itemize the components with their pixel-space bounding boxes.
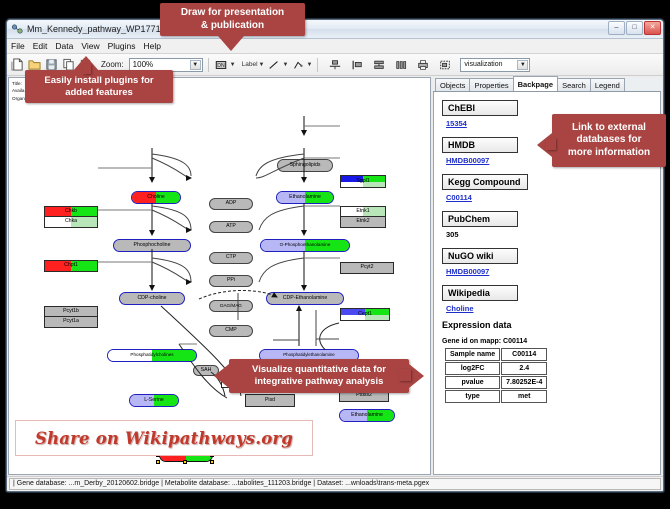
node-phosphatidylcholines[interactable]: Phosphatidylcholines bbox=[107, 349, 197, 362]
minimize-button[interactable]: – bbox=[608, 21, 625, 35]
backpage-value-pubchem: 305 bbox=[446, 230, 660, 239]
line-icon[interactable] bbox=[266, 57, 281, 72]
table-row: Sample name C00114 bbox=[445, 348, 547, 361]
link-annotation-line2: databases for bbox=[568, 134, 650, 147]
share-banner-text: Share on Wikipathways.org bbox=[35, 429, 293, 448]
interaction-tool-group[interactable]: ▼ bbox=[290, 57, 312, 72]
table-cell-value: C00114 bbox=[501, 348, 547, 361]
plugins-annotation: Easily install plugins for added feature… bbox=[25, 70, 173, 103]
tab-search[interactable]: Search bbox=[557, 78, 591, 91]
align-center-icon[interactable] bbox=[327, 57, 342, 72]
chevron-down-icon[interactable]: ▼ bbox=[517, 60, 528, 70]
print-icon[interactable] bbox=[415, 57, 430, 72]
node-o-phosphoethanolamine[interactable]: O-Phosphoethanolamine bbox=[260, 239, 350, 252]
selection-handle-se[interactable] bbox=[210, 460, 214, 464]
plugins-annotation-line1: Easily install plugins for bbox=[44, 75, 153, 87]
label-tool-label: Label bbox=[242, 61, 258, 68]
line-tool-group[interactable]: ▼ bbox=[266, 57, 288, 72]
tab-objects[interactable]: Objects bbox=[435, 78, 470, 91]
visualize-annotation-arrow-right-icon bbox=[409, 364, 424, 388]
window-controls: – □ ✕ bbox=[608, 21, 661, 35]
backpage-link-wikipedia[interactable]: Choline bbox=[446, 304, 660, 313]
gene-id-note: Gene id on mapp: C00114 bbox=[442, 338, 660, 345]
backpage-header-kegg: Kegg Compound bbox=[442, 174, 528, 190]
node-cept1[interactable]: Cept1 bbox=[340, 308, 390, 321]
menu-item-data[interactable]: Data bbox=[55, 41, 73, 51]
node-ethanolamine-top[interactable]: Ethanolamine bbox=[276, 191, 334, 204]
menu-bar: File Edit Data View Plugins Help bbox=[7, 39, 663, 54]
table-cell-label: Sample name bbox=[445, 348, 500, 361]
draw-annotation-line2: & publication bbox=[181, 20, 284, 33]
table-cell-value: 2.4 bbox=[501, 362, 547, 375]
selection-handle-sw[interactable] bbox=[156, 460, 160, 464]
chevron-down-icon[interactable]: ▼ bbox=[190, 60, 201, 70]
table-row: log2FC 2.4 bbox=[445, 362, 547, 375]
table-cell-label: log2FC bbox=[445, 362, 500, 375]
maximize-button[interactable]: □ bbox=[626, 21, 643, 35]
new-file-icon[interactable] bbox=[10, 57, 25, 72]
node-chkb[interactable]: Chkb bbox=[44, 206, 98, 217]
visualization-combo[interactable]: visualization ▼ bbox=[460, 58, 530, 72]
visualize-annotation-line1: Visualize quantitative data for bbox=[252, 364, 386, 376]
tab-backpage[interactable]: Backpage bbox=[513, 76, 558, 91]
node-chka[interactable]: Chka bbox=[44, 217, 98, 228]
menu-item-file[interactable]: File bbox=[11, 41, 25, 51]
backpage-header-chebi: ChEBI bbox=[442, 100, 518, 116]
group-icon[interactable] bbox=[437, 57, 452, 72]
status-text: | Gene database: ...m_Derby_20120602.bri… bbox=[9, 478, 661, 490]
link-annotation: Link to external databases for more info… bbox=[552, 114, 666, 167]
plugins-annotation-line2: added features bbox=[44, 87, 153, 99]
datanode-tool-group[interactable]: DN ▼ bbox=[214, 57, 236, 72]
table-cell-value: 7.80252E-4 bbox=[501, 376, 547, 389]
node-etnk1[interactable]: Etnk1 bbox=[340, 206, 386, 217]
backpage-header-hmdb: HMDB bbox=[442, 137, 518, 153]
visualize-annotation: Visualize quantitative data for integrat… bbox=[229, 359, 409, 393]
node-choline-top[interactable]: Choline bbox=[131, 191, 181, 204]
draw-annotation-arrow-icon bbox=[218, 36, 244, 51]
backpage-link-kegg[interactable]: C00114 bbox=[446, 193, 660, 202]
menu-item-edit[interactable]: Edit bbox=[33, 41, 48, 51]
menu-item-view[interactable]: View bbox=[81, 41, 99, 51]
interaction-icon[interactable] bbox=[290, 57, 305, 72]
tab-legend[interactable]: Legend bbox=[590, 78, 625, 91]
toolbar-separator bbox=[317, 58, 318, 72]
share-banner: Share on Wikipathways.org bbox=[15, 420, 313, 456]
label-tool-group[interactable]: Label ▼ bbox=[238, 61, 265, 68]
menu-item-help[interactable]: Help bbox=[144, 41, 161, 51]
expression-data-table: Sample name C00114 log2FC 2.4 pvalue 7.8… bbox=[444, 347, 548, 404]
expression-data-heading: Expression data bbox=[442, 320, 660, 330]
table-cell-value: met bbox=[501, 390, 547, 403]
table-row: pvalue 7.80252E-4 bbox=[445, 376, 547, 389]
datanode-icon[interactable]: DN bbox=[214, 57, 229, 72]
backpage-header-nugowiki: NuGO wiki bbox=[442, 248, 518, 264]
selection-handle-s[interactable] bbox=[183, 460, 187, 464]
chevron-down-icon[interactable]: ▼ bbox=[259, 62, 265, 68]
visualize-annotation-stem bbox=[399, 369, 411, 381]
stack-icon[interactable] bbox=[371, 57, 386, 72]
close-button[interactable]: ✕ bbox=[644, 21, 661, 35]
plugins-annotation-stem bbox=[83, 64, 91, 74]
title-bar: Mm_Kennedy_pathway_WP1771_45176.gpml – □… bbox=[7, 20, 663, 39]
menu-item-plugins[interactable]: Plugins bbox=[108, 41, 136, 51]
chevron-down-icon[interactable]: ▼ bbox=[282, 62, 288, 68]
svg-text:DN: DN bbox=[217, 63, 225, 69]
visualize-annotation-arrow-left-icon bbox=[214, 364, 229, 388]
table-cell-label: type bbox=[445, 390, 500, 403]
visualization-value: visualization bbox=[464, 61, 502, 68]
link-annotation-stem bbox=[546, 138, 556, 150]
status-bar: | Gene database: ...m_Derby_20120602.bri… bbox=[7, 476, 663, 491]
toolbar-separator bbox=[208, 58, 209, 72]
zoom-label: Zoom: bbox=[101, 60, 124, 69]
pathway-canvas[interactable]: Title: Availa Organ bbox=[8, 77, 431, 475]
node-chpt1[interactable]: Chpt1 bbox=[44, 260, 98, 272]
pathvisio-icon bbox=[11, 23, 23, 35]
align-left-icon[interactable] bbox=[349, 57, 364, 72]
tab-properties[interactable]: Properties bbox=[469, 78, 513, 91]
chevron-down-icon[interactable]: ▼ bbox=[230, 62, 236, 68]
distribute-icon[interactable] bbox=[393, 57, 408, 72]
draw-annotation-line1: Draw for presentation bbox=[181, 7, 284, 20]
backpage-header-pubchem: PubChem bbox=[442, 211, 518, 227]
table-row: type met bbox=[445, 390, 547, 403]
sidebar-tabstrip: Objects Properties Backpage Search Legen… bbox=[433, 77, 661, 92]
table-cell-label: pvalue bbox=[445, 376, 500, 389]
backpage-header-wikipedia: Wikipedia bbox=[442, 285, 518, 301]
link-annotation-line1: Link to external bbox=[568, 122, 650, 135]
backpage-link-nugowiki[interactable]: HMDB00097 bbox=[446, 267, 660, 276]
node-sgpl1[interactable]: Sgpl1 bbox=[340, 175, 386, 188]
screenshot-root: Mm_Kennedy_pathway_WP1771_45176.gpml – □… bbox=[0, 0, 670, 509]
node-ethanolamine-right[interactable]: Ethanolamine bbox=[339, 409, 395, 422]
link-annotation-line3: more information bbox=[568, 147, 650, 160]
chevron-down-icon[interactable]: ▼ bbox=[306, 62, 312, 68]
visualize-annotation-line2: integrative pathway analysis bbox=[252, 376, 386, 388]
draw-annotation: Draw for presentation & publication bbox=[160, 3, 305, 36]
zoom-value: 100% bbox=[133, 60, 153, 69]
node-l-serine-left[interactable]: L-Serine bbox=[129, 394, 179, 407]
